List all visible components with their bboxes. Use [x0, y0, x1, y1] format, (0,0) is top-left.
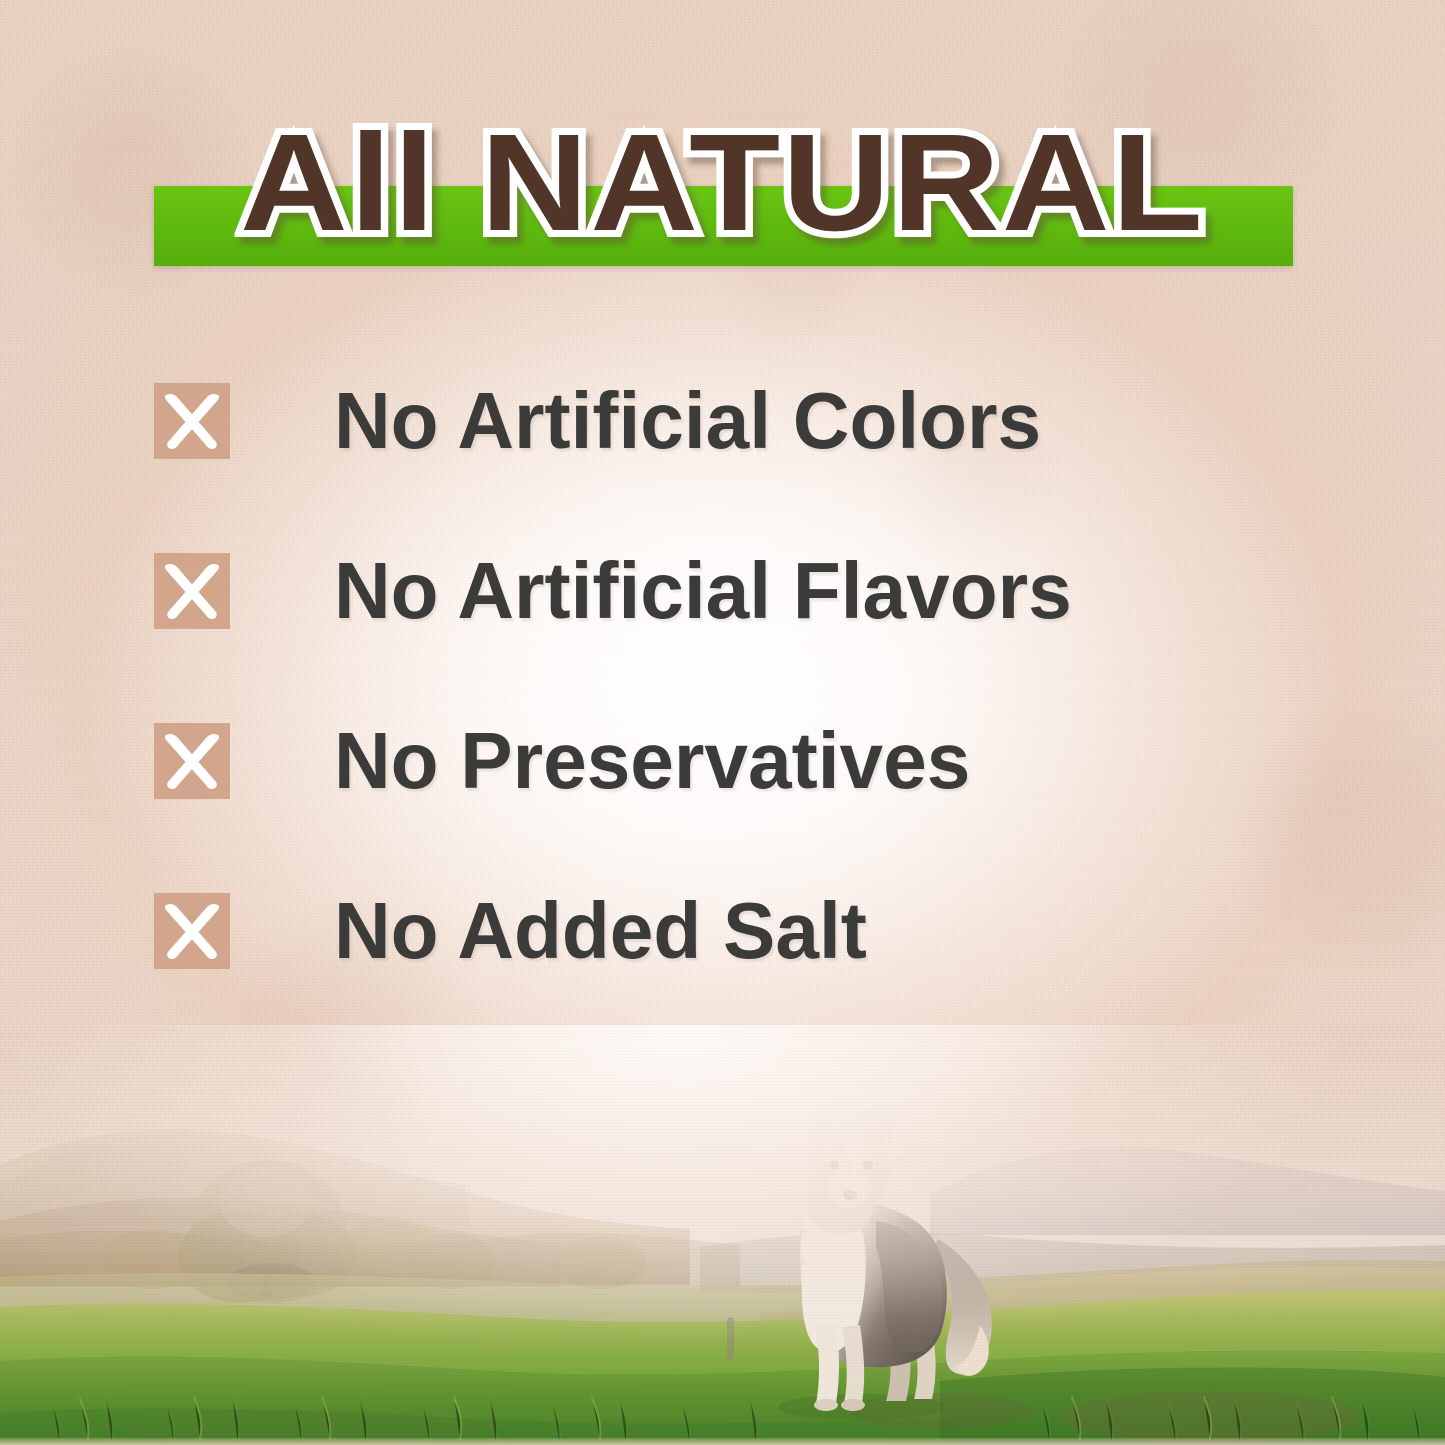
landscape-dog-photo: [0, 1025, 1445, 1445]
photo-illustration: [0, 1025, 1445, 1445]
headline-block: All NATURAL: [0, 0, 1445, 300]
list-item: No Artificial Colors: [0, 373, 1445, 543]
x-mark-icon: [154, 893, 230, 969]
claims-list: No Artificial Colors No Artificial Flavo…: [0, 373, 1445, 1053]
x-mark-icon: [154, 723, 230, 799]
page-title: All NATURAL: [0, 108, 1445, 258]
x-mark-icon: [154, 383, 230, 459]
x-mark-icon: [154, 553, 230, 629]
list-item-label: No Added Salt: [334, 879, 867, 983]
list-item: No Preservatives: [0, 713, 1445, 883]
list-item: No Artificial Flavors: [0, 543, 1445, 713]
list-item-label: No Preservatives: [334, 709, 970, 813]
list-item-label: No Artificial Colors: [334, 369, 1041, 473]
list-item-label: No Artificial Flavors: [334, 539, 1072, 643]
list-item: No Added Salt: [0, 883, 1445, 1053]
product-feature-card: All NATURAL No Artificial Colors No Arti…: [0, 0, 1445, 1445]
